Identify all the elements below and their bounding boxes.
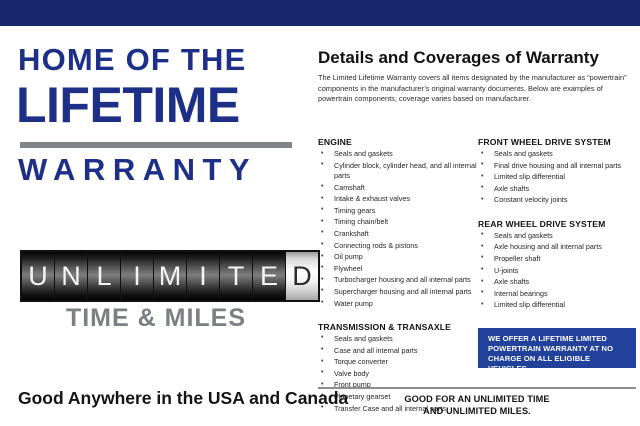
- odometer-cell: N: [55, 252, 87, 300]
- coverage-item: Flywheel: [318, 264, 478, 274]
- coverage-item: Propeller shaft: [478, 254, 638, 264]
- coverage-item: U-joints: [478, 266, 638, 276]
- coverage-item: Seals and gaskets: [478, 149, 638, 159]
- offer-callout-line3: CHARGE ON ALL ELIGIBLE VEHICLES.: [488, 354, 628, 374]
- coverage-item: Cylinder block, cylinder head, and all i…: [318, 161, 478, 182]
- odometer-cell: U: [22, 252, 54, 300]
- coverage-section-heading: FRONT WHEEL DRIVE SYSTEM: [478, 136, 638, 148]
- coverage-item: Internal bearings: [478, 289, 638, 299]
- coverage-item: Camshaft: [318, 183, 478, 193]
- coverage-item: Axle shafts: [478, 184, 638, 194]
- coverage-section-heading: ENGINE: [318, 136, 478, 148]
- coverage-column-left: ENGINESeals and gasketsCylinder block, c…: [318, 136, 478, 415]
- hero-divider-rule: [20, 142, 292, 148]
- odometer-cell: L: [88, 252, 120, 300]
- coverage-item: Supercharger housing and all internal pa…: [318, 287, 478, 297]
- footer-note-line2: AND UNLIMITED MILES.: [318, 406, 636, 418]
- coverage-item: Axle housing and all internal parts: [478, 242, 638, 252]
- coverage-item: Intake & exhaust valves: [318, 194, 478, 204]
- hero-headline-line1: HOME OF THE: [18, 44, 294, 75]
- coverage-item: Turbocharger housing and all internal pa…: [318, 275, 478, 285]
- odometer-cell: I: [121, 252, 153, 300]
- odometer-cell: I: [187, 252, 219, 300]
- coverage-item: Limited slip differential: [478, 172, 638, 182]
- coverage-item-list: Seals and gasketsFinal drive housing and…: [478, 149, 638, 206]
- page-body: HOME OF THE LIFETIME WARRANTY UNLIMITED …: [0, 26, 640, 426]
- coverage-section-heading: TRANSMISSION & TRANSAXLE: [318, 321, 478, 333]
- coverage-item: Torque converter: [318, 357, 478, 367]
- hero-headline-line2: LIFETIME: [16, 80, 306, 130]
- coverage-item: Final drive housing and all internal par…: [478, 161, 638, 171]
- footer-note-line1: GOOD FOR AN UNLIMITED TIME: [318, 394, 636, 406]
- footer-divider-rule: [318, 387, 636, 389]
- coverage-item: Constant velocity joints: [478, 195, 638, 205]
- coverage-item: Axle shafts: [478, 277, 638, 287]
- details-panel: Details and Coverages of Warranty The Li…: [310, 26, 640, 426]
- offer-callout-box: WE OFFER A LIFETIME LIMITED POWERTRAIN W…: [478, 328, 636, 368]
- odometer-cell: M: [154, 252, 186, 300]
- coverage-item: Crankshaft: [318, 229, 478, 239]
- coverage-item: Oil pump: [318, 252, 478, 262]
- details-intro-paragraph: The Limited Lifetime Warranty covers all…: [318, 73, 636, 105]
- footer-note: GOOD FOR AN UNLIMITED TIME AND UNLIMITED…: [318, 394, 636, 417]
- coverage-item: Seals and gaskets: [318, 149, 478, 159]
- hero-panel: HOME OF THE LIFETIME WARRANTY UNLIMITED …: [0, 26, 310, 426]
- coverage-item: Seals and gaskets: [318, 334, 478, 344]
- hero-headline-line3: WARRANTY: [18, 153, 298, 187]
- coverage-item: Water pump: [318, 299, 478, 309]
- coverage-item-list: Seals and gasketsAxle housing and all in…: [478, 231, 638, 311]
- coverage-item: Seals and gaskets: [478, 231, 638, 241]
- coverage-region-tagline: Good Anywhere in the USA and Canada: [18, 388, 302, 408]
- coverage-item: Timing gears: [318, 206, 478, 216]
- coverage-item: Timing chain/belt: [318, 217, 478, 227]
- odometer-cell: E: [253, 252, 285, 300]
- odometer-graphic: UNLIMITED: [20, 250, 320, 302]
- coverage-column-right: FRONT WHEEL DRIVE SYSTEMSeals and gasket…: [478, 136, 638, 312]
- top-brand-bar: [0, 0, 640, 26]
- coverage-item: Limited slip differential: [478, 300, 638, 310]
- coverage-item: Case and all internal parts: [318, 346, 478, 356]
- offer-callout-line2: POWERTRAIN WARRANTY AT NO: [488, 344, 628, 354]
- coverage-item: Connecting rods & pistons: [318, 241, 478, 251]
- coverage-item: Front pump: [318, 380, 478, 390]
- offer-callout-line1: WE OFFER A LIFETIME LIMITED: [488, 334, 628, 344]
- odometer-subtitle: TIME & MILES: [20, 304, 292, 332]
- coverage-item-list: Seals and gasketsCylinder block, cylinde…: [318, 149, 478, 309]
- coverage-section-heading: REAR WHEEL DRIVE SYSTEM: [478, 218, 638, 230]
- odometer-cell: T: [220, 252, 252, 300]
- details-title: Details and Coverages of Warranty: [318, 48, 636, 68]
- coverage-item: Valve body: [318, 369, 478, 379]
